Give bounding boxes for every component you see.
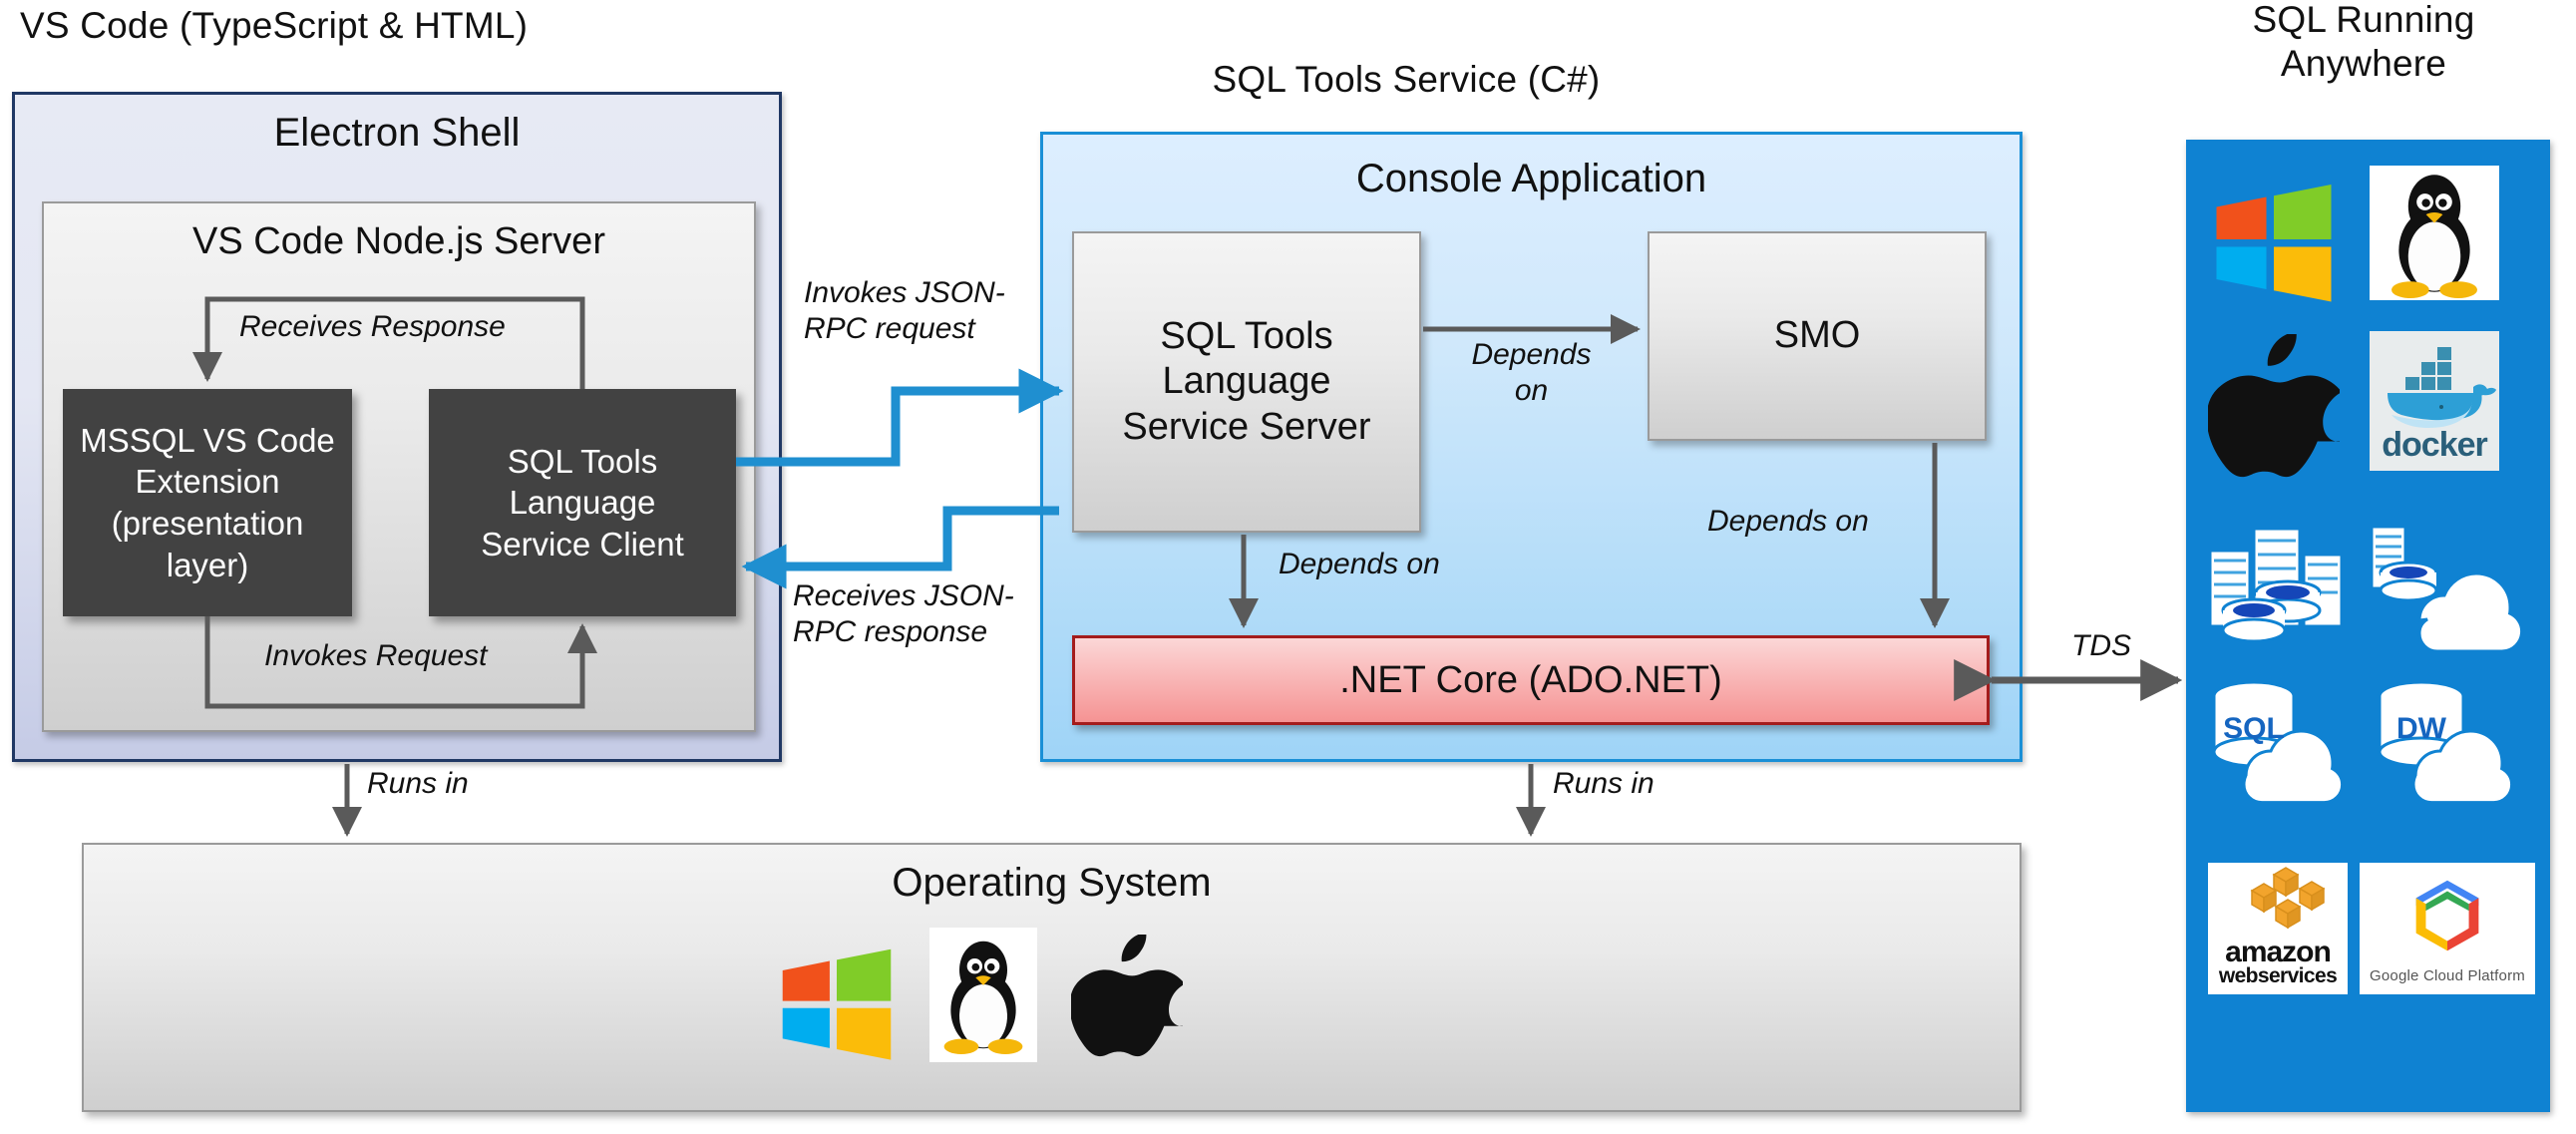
caption-sql-tools-service: SQL Tools Service (C#) bbox=[1057, 58, 1755, 102]
box-sql-tools-language-service-client-label: SQL Tools Language Service Client bbox=[471, 441, 694, 566]
label-runs-in-right: Runs in bbox=[1553, 766, 1752, 802]
box-mssql-vscode-extension[interactable]: MSSQL VS Code Extension (presentation la… bbox=[63, 389, 352, 616]
panel-console-application-title: Console Application bbox=[1043, 157, 2020, 200]
box-smo-label: SMO bbox=[1766, 313, 1869, 359]
on-premises-datacenter-icon bbox=[2202, 517, 2352, 651]
edge-receives-jsonrpc-response bbox=[746, 511, 1059, 567]
label-depends-on-smo: Depends on bbox=[1439, 337, 1624, 409]
diagram-canvas: VS Code (TypeScript & HTML) SQL Tools Se… bbox=[0, 0, 2576, 1134]
box-mssql-vscode-extension-label: MSSQL VS Code Extension (presentation la… bbox=[70, 420, 345, 585]
apple-logo bbox=[2208, 334, 2348, 484]
amazon-web-services-logo: amazon webservices bbox=[2208, 863, 2348, 994]
edge-invokes-jsonrpc-request bbox=[736, 391, 1059, 462]
amazon-web-services-logo-label: amazon webservices bbox=[2208, 939, 2348, 986]
apple-logo bbox=[1071, 935, 1189, 1062]
aws-label-line1: amazon bbox=[2208, 939, 2348, 967]
label-depends-on-dotnet-from-smo: Depends on bbox=[1707, 504, 1967, 540]
label-receives-response: Receives Response bbox=[239, 309, 598, 345]
windows-logo bbox=[2204, 180, 2344, 304]
google-cloud-platform-logo: Google Cloud Platform bbox=[2360, 863, 2535, 994]
docker-logo: docker bbox=[2370, 331, 2499, 471]
label-runs-in-left: Runs in bbox=[367, 766, 566, 802]
os-logo-strip bbox=[778, 928, 1189, 1062]
private-cloud-icon bbox=[2362, 517, 2533, 651]
google-cloud-platform-logo-label: Google Cloud Platform bbox=[2360, 967, 2535, 984]
caption-sql-running-anywhere: SQL Running Anywhere bbox=[2174, 0, 2553, 85]
box-sql-tools-language-service-server-label: SQL Tools Language Service Server bbox=[1114, 314, 1378, 451]
windows-logo bbox=[778, 945, 896, 1062]
box-sql-tools-language-service-server[interactable]: SQL Tools Language Service Server bbox=[1072, 231, 1421, 533]
box-operating-system-title: Operating System bbox=[84, 859, 2020, 907]
linux-tux-logo bbox=[929, 928, 1037, 1062]
box-sql-tools-language-service-client[interactable]: SQL Tools Language Service Client bbox=[429, 389, 736, 616]
label-invokes-request: Invokes Request bbox=[264, 638, 593, 674]
box-dotnet-core[interactable]: .NET Core (ADO.NET) bbox=[1072, 635, 1990, 725]
azure-sql-data-warehouse-icon: DW bbox=[2366, 670, 2533, 810]
panel-sql-running-anywhere: docker bbox=[2186, 140, 2550, 1112]
azure-sql-database-icon: SQL bbox=[2202, 670, 2360, 810]
linux-tux-logo bbox=[2370, 166, 2499, 300]
aws-label-line2: webservices bbox=[2208, 966, 2348, 986]
box-dotnet-core-label: .NET Core (ADO.NET) bbox=[1339, 659, 1722, 702]
label-receives-jsonrpc-response: Receives JSON- RPC response bbox=[793, 578, 1062, 650]
label-tds: TDS bbox=[2071, 628, 2191, 664]
svg-text:DW: DW bbox=[2396, 712, 2447, 745]
svg-text:SQL: SQL bbox=[2223, 712, 2285, 745]
box-vscode-nodejs-server-title: VS Code Node.js Server bbox=[44, 219, 754, 265]
label-depends-on-dotnet-from-server: Depends on bbox=[1279, 547, 1538, 582]
panel-electron-shell-title: Electron Shell bbox=[15, 111, 779, 155]
docker-logo-label: docker bbox=[2370, 426, 2499, 465]
label-invokes-jsonrpc-request: Invokes JSON- RPC request bbox=[804, 275, 1063, 347]
caption-vscode: VS Code (TypeScript & HTML) bbox=[20, 4, 588, 48]
box-smo[interactable]: SMO bbox=[1648, 231, 1987, 441]
